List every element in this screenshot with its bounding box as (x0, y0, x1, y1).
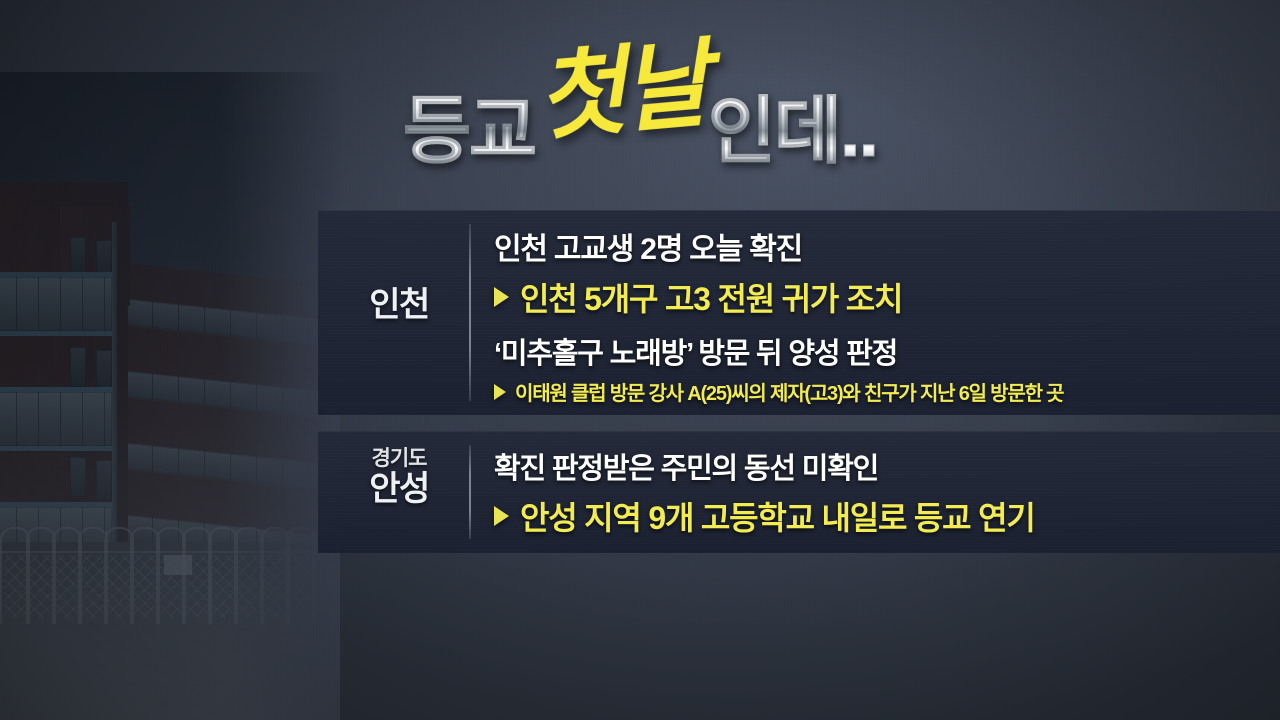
region-name: 인천 (338, 286, 460, 325)
arrow-right-icon (494, 506, 509, 526)
headline-text: 확진 판정받은 주민의 동선 미확인 (494, 445, 878, 487)
headline-row: 인천 고교생 2명 오늘 확진 (494, 224, 802, 268)
bullet-row: 이태원 클럽 방문 강사 A(25)씨의 제자(고3)와 친구가 지난 6일 방… (494, 377, 1063, 406)
region-name: 안성 (338, 470, 460, 509)
region-label-incheon: 인천 (338, 286, 460, 325)
arrow-right-icon (494, 384, 506, 400)
news-panel-anseong: 경기도 안성 확진 판정받은 주민의 동선 미확인 안성 지역 9개 고등학교 … (318, 431, 1280, 553)
bullet-row: 인천 5개구 고3 전원 귀가 조치 (494, 274, 902, 320)
bullet-text: 이태원 클럽 방문 강사 A(25)씨의 제자(고3)와 친구가 지난 6일 방… (515, 377, 1063, 406)
news-graphic-stage: 등교첫날인데.. 인천 인천 고교생 2명 오늘 확진 인천 5개구 고3 전원… (0, 0, 1280, 720)
region-label-anseong: 경기도 안성 (338, 447, 460, 509)
headline-row: 확진 판정받은 주민의 동선 미확인 (494, 445, 878, 487)
title-part-1: 등교 (403, 94, 535, 168)
headline-text: 인천 고교생 2명 오늘 확진 (494, 224, 802, 268)
arrow-right-icon (494, 287, 509, 307)
headline-text: ‘미추홀구 노래방’ 방문 뒤 양성 판정 (494, 330, 897, 372)
headline-title: 등교첫날인데.. (0, 58, 1280, 188)
bullet-row: 안성 지역 9개 고등학교 내일로 등교 연기 (494, 493, 1035, 539)
panel-divider (469, 445, 471, 539)
region-province: 경기도 (338, 447, 460, 470)
title-part-3: 인데.. (708, 94, 877, 168)
news-panel-incheon: 인천 인천 고교생 2명 오늘 확진 인천 5개구 고3 전원 귀가 조치 ‘미… (318, 210, 1280, 415)
headline-row: ‘미추홀구 노래방’ 방문 뒤 양성 판정 (494, 330, 897, 372)
panel-lines-anseong: 확진 판정받은 주민의 동선 미확인 안성 지역 9개 고등학교 내일로 등교 … (494, 431, 1266, 553)
title-accent-part: 첫날 (533, 37, 709, 147)
bullet-text: 인천 5개구 고3 전원 귀가 조치 (520, 274, 902, 320)
panel-divider (469, 224, 471, 401)
panel-lines-incheon: 인천 고교생 2명 오늘 확진 인천 5개구 고3 전원 귀가 조치 ‘미추홀구… (494, 210, 1266, 415)
bullet-text: 안성 지역 9개 고등학교 내일로 등교 연기 (520, 493, 1035, 539)
